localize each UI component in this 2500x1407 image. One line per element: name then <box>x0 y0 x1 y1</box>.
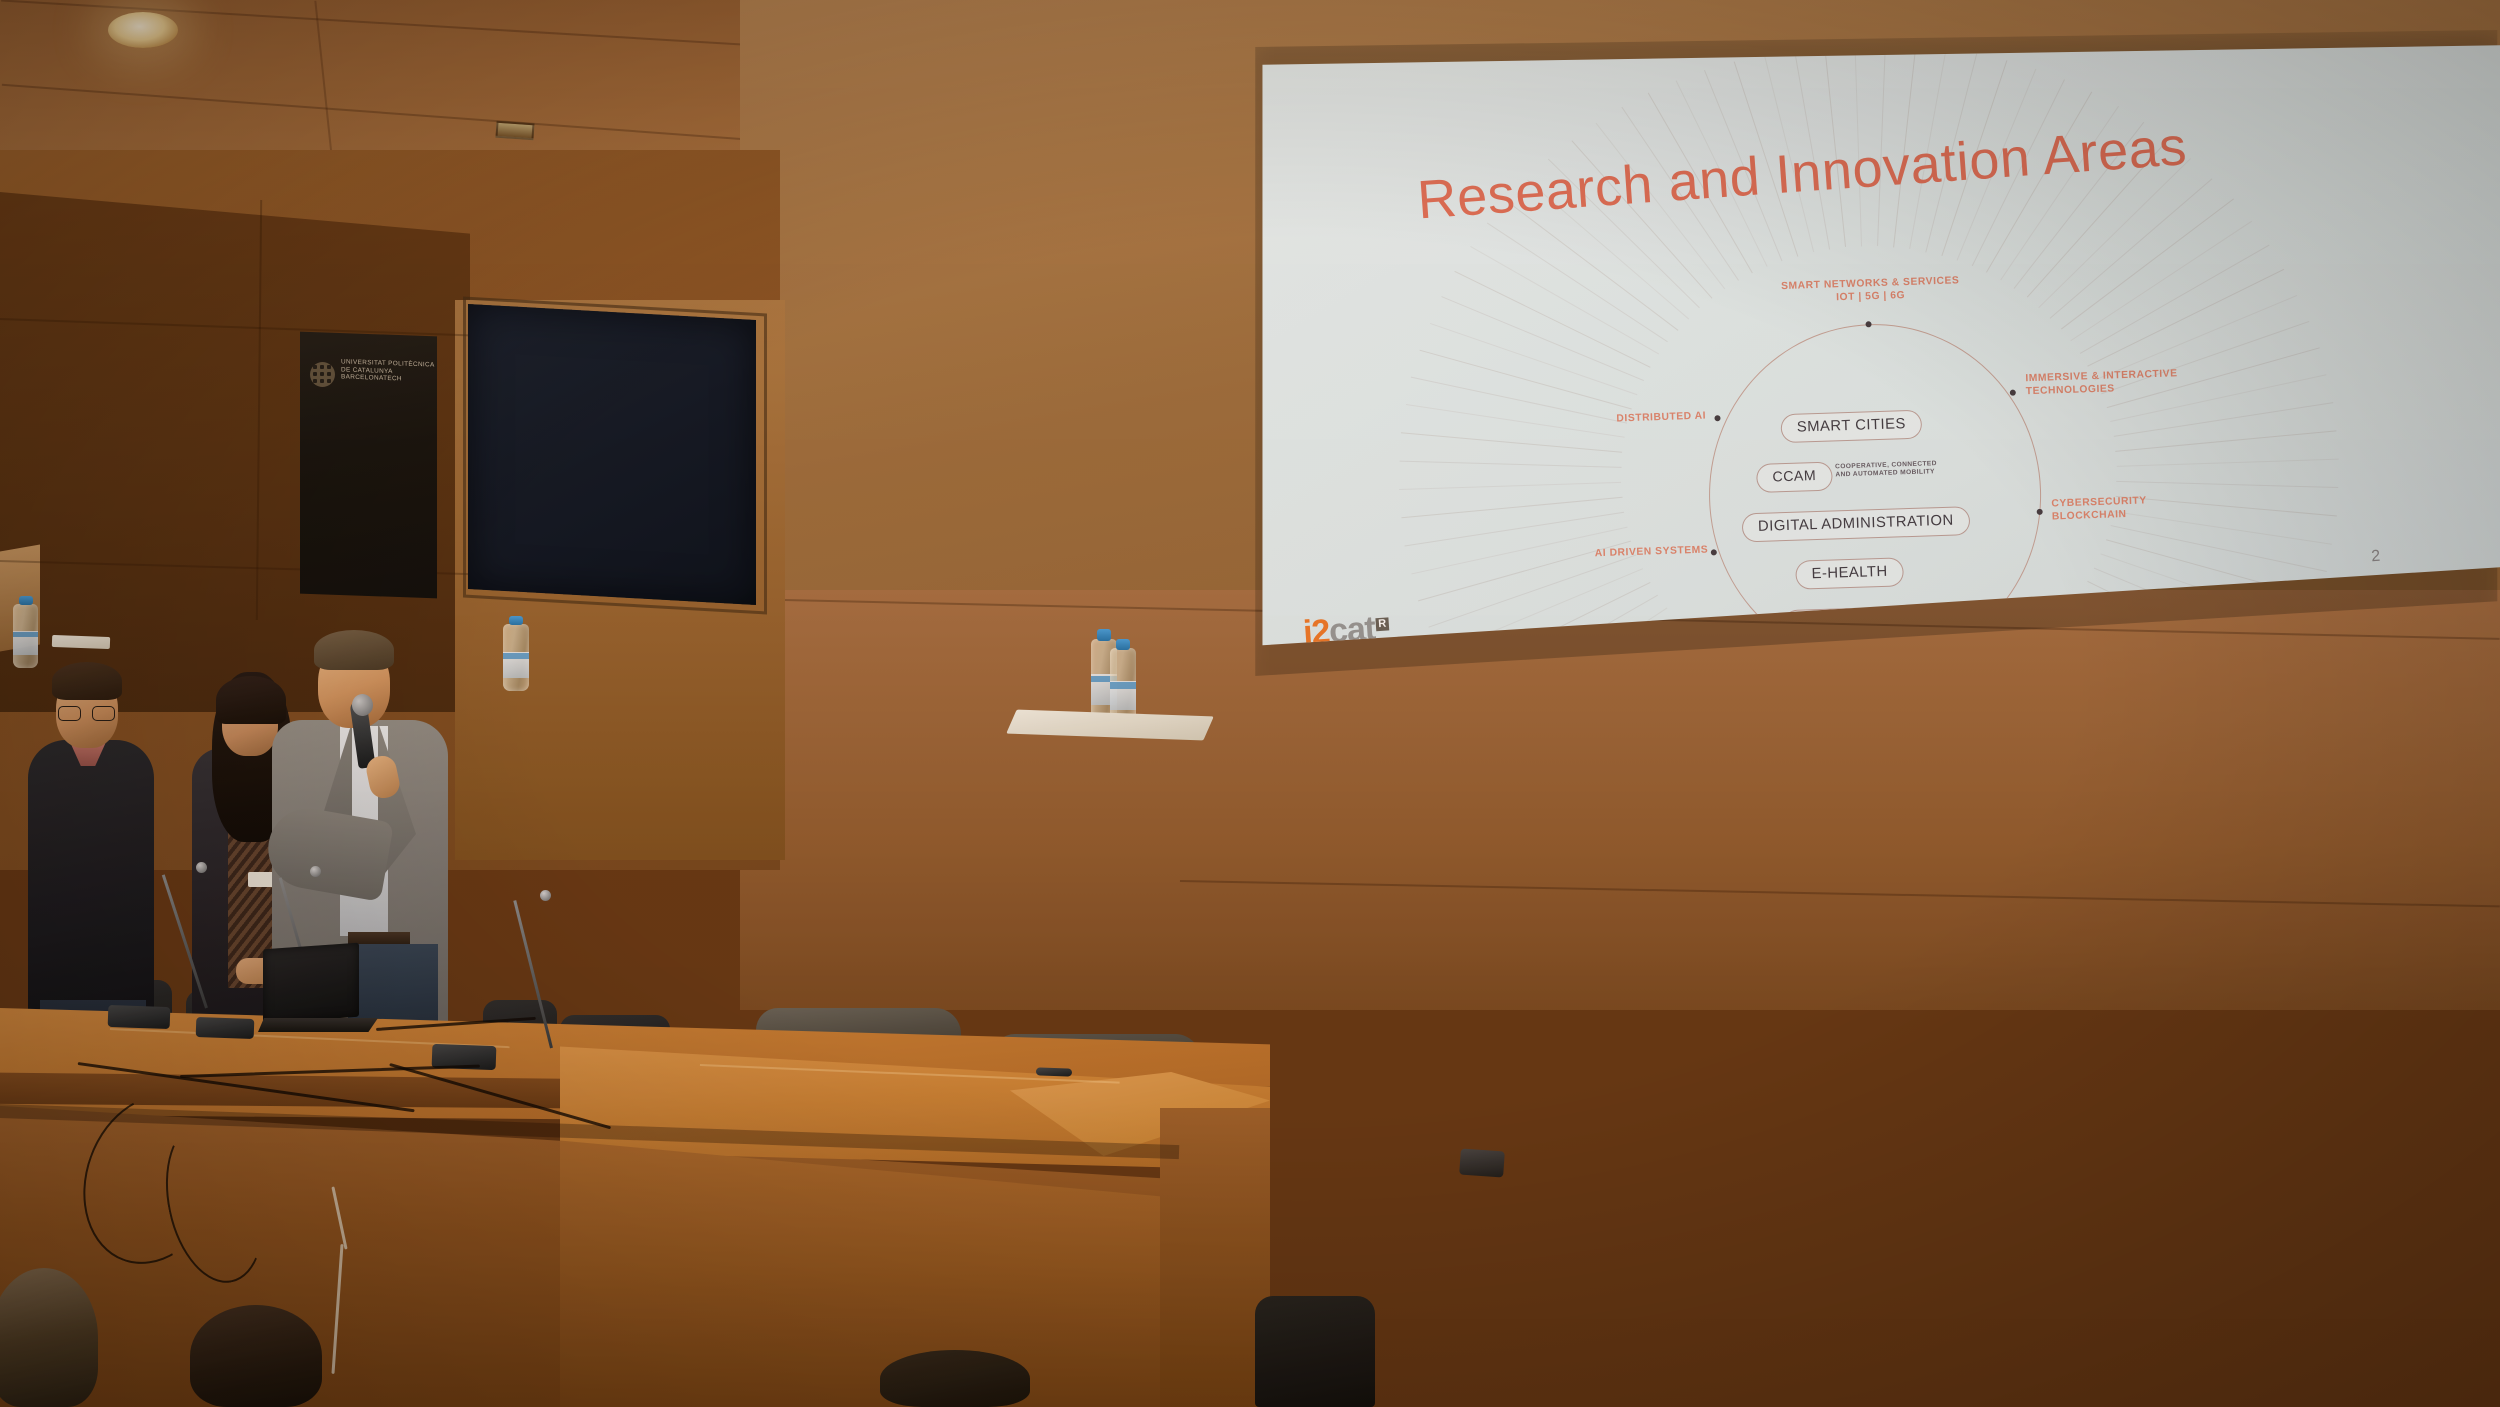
ring-node <box>1711 549 1717 555</box>
microphone-base <box>108 1005 171 1029</box>
ray-line <box>2116 430 2337 451</box>
outer-label-distributed-ai: DISTRIBUTED AI <box>1616 411 1706 426</box>
presentation-room-photo: UNIVERSITAT POLITÈCNICA DE CATALUNYA BAR… <box>0 0 2500 1407</box>
slide-page-number: 2 <box>2371 548 2381 567</box>
microphone-capsule-icon <box>310 866 321 877</box>
water-bottle <box>13 604 38 668</box>
cybersecurity-line1: CYBERSECURITY <box>2051 495 2147 509</box>
microphone-capsule-icon <box>196 862 207 873</box>
water-bottle <box>503 624 529 691</box>
microphone-base <box>196 1017 255 1039</box>
desk-connector <box>1036 1067 1072 1076</box>
distributed-ai-text: DISTRIBUTED AI <box>1616 411 1706 425</box>
desk-connector <box>1459 1148 1505 1177</box>
ccam-subtitle: COOPERATIVE, CONNECTED AND AUTOMATED MOB… <box>1835 460 1937 480</box>
cybersecurity-line2: BLOCKCHAIN <box>2052 508 2148 524</box>
laptop-screen <box>263 943 359 1024</box>
audience-head <box>0 1268 98 1407</box>
audience-head <box>190 1305 322 1407</box>
panelist-left-hair <box>52 662 122 700</box>
logo-registered-mark: R <box>1375 617 1390 631</box>
panelist-left-torso <box>28 740 154 1015</box>
ray-line <box>2117 459 2339 467</box>
outer-label-ai-driven: AI DRIVEN SYSTEMS <box>1595 545 1709 561</box>
chalkboard <box>468 304 756 605</box>
glasses-icon <box>58 706 114 719</box>
ceiling-light-icon <box>108 12 178 48</box>
ring-node <box>1714 415 1720 421</box>
upc-grid-icon <box>313 365 332 384</box>
papers <box>52 635 110 649</box>
slide-title: Research and Innovation Areas <box>1415 115 2188 231</box>
pill-ccam: CCAM <box>1756 462 1833 493</box>
ceiling-vent-icon <box>495 121 534 141</box>
immersive-line2: TECHNOLOGIES <box>2026 381 2179 399</box>
upc-banner-text: UNIVERSITAT POLITÈCNICA DE CATALUNYA BAR… <box>341 358 435 384</box>
outer-label-immersive: IMMERSIVE & INTERACTIVE TECHNOLOGIES <box>2025 368 2178 398</box>
outer-label-cybersecurity: CYBERSECURITY BLOCKCHAIN <box>2051 495 2147 523</box>
ai-driven-text: AI DRIVEN SYSTEMS <box>1595 545 1709 560</box>
pill-e-health: E-HEALTH <box>1795 557 1904 589</box>
pill-smart-cities: SMART CITIES <box>1780 410 1922 444</box>
outer-label-smart-networks: SMART NETWORKS & SERVICES IoT | 5G | 6G <box>1760 275 1981 307</box>
ring-node <box>2010 390 2016 396</box>
speaker-hair <box>314 630 394 670</box>
audience-head <box>1255 1296 1375 1407</box>
panelist-center-hair-front <box>216 676 286 724</box>
laptop-keyboard-base <box>258 1018 378 1032</box>
ray-line <box>2117 481 2339 488</box>
ring-node <box>2037 509 2043 515</box>
microphone-capsule-icon <box>540 890 551 901</box>
audience-head <box>880 1350 1030 1407</box>
